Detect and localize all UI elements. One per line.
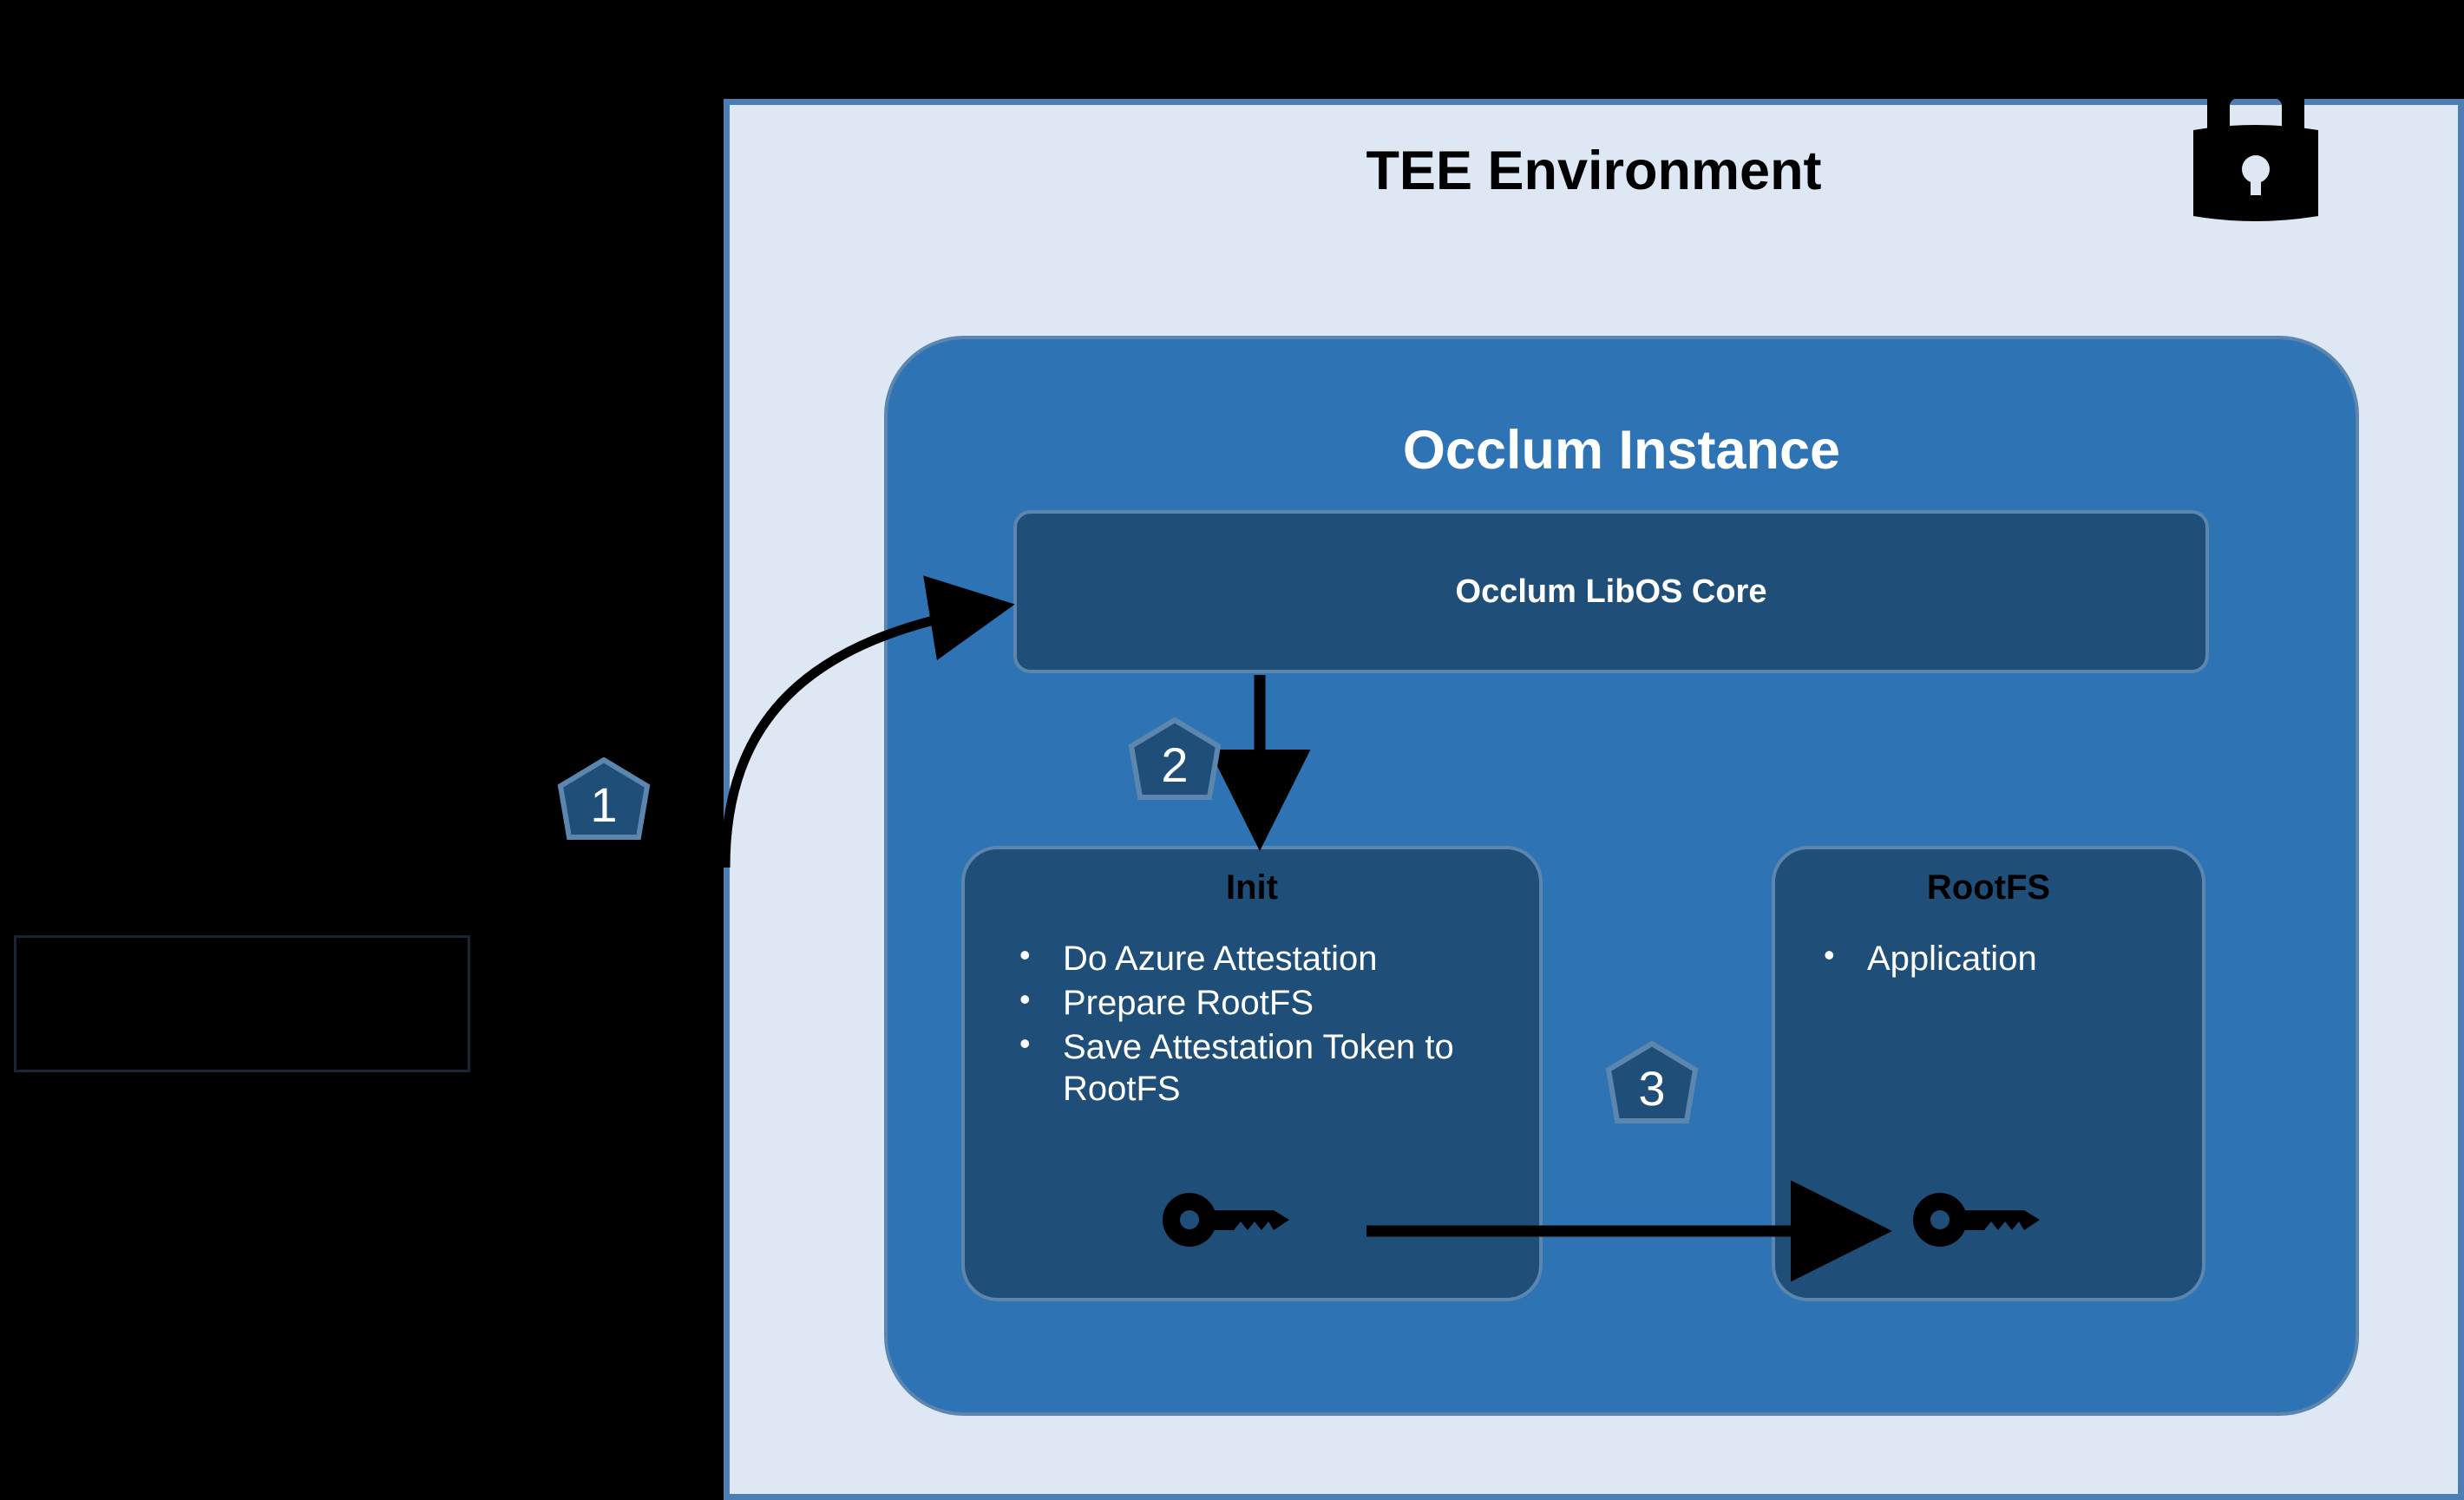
step-badge-2-number: 2	[1124, 717, 1226, 813]
init-title: Init	[965, 868, 1539, 907]
list-item: Prepare RootFS	[1012, 982, 1524, 1025]
step-badge-1: 1	[553, 757, 655, 853]
rootfs-bullet-list: Application	[1817, 938, 2181, 980]
key-icon	[1163, 1193, 1310, 1247]
step-badge-3-number: 3	[1601, 1041, 1703, 1136]
rootfs-title: RootFS	[1775, 868, 2202, 907]
occlum-instance-title: Occlum Instance	[888, 419, 2356, 481]
key-icon	[1913, 1193, 2061, 1247]
left-placeholder-box	[14, 935, 470, 1072]
occlum-libos-core-label: Occlum LibOS Core	[1456, 573, 1767, 611]
step-badge-2: 2	[1124, 717, 1226, 813]
list-item: Save Attestation Token to RootFS	[1012, 1026, 1524, 1111]
list-item: Application	[1817, 938, 2181, 980]
step-badge-1-number: 1	[553, 757, 655, 853]
step-badge-3: 3	[1601, 1041, 1703, 1136]
occlum-libos-core-box: Occlum LibOS Core	[1013, 510, 2209, 673]
padlock-icon	[2169, 80, 2343, 232]
list-item: Do Azure Attestation	[1012, 938, 1524, 980]
init-bullet-list: Do Azure Attestation Prepare RootFS Save…	[1012, 938, 1524, 1112]
